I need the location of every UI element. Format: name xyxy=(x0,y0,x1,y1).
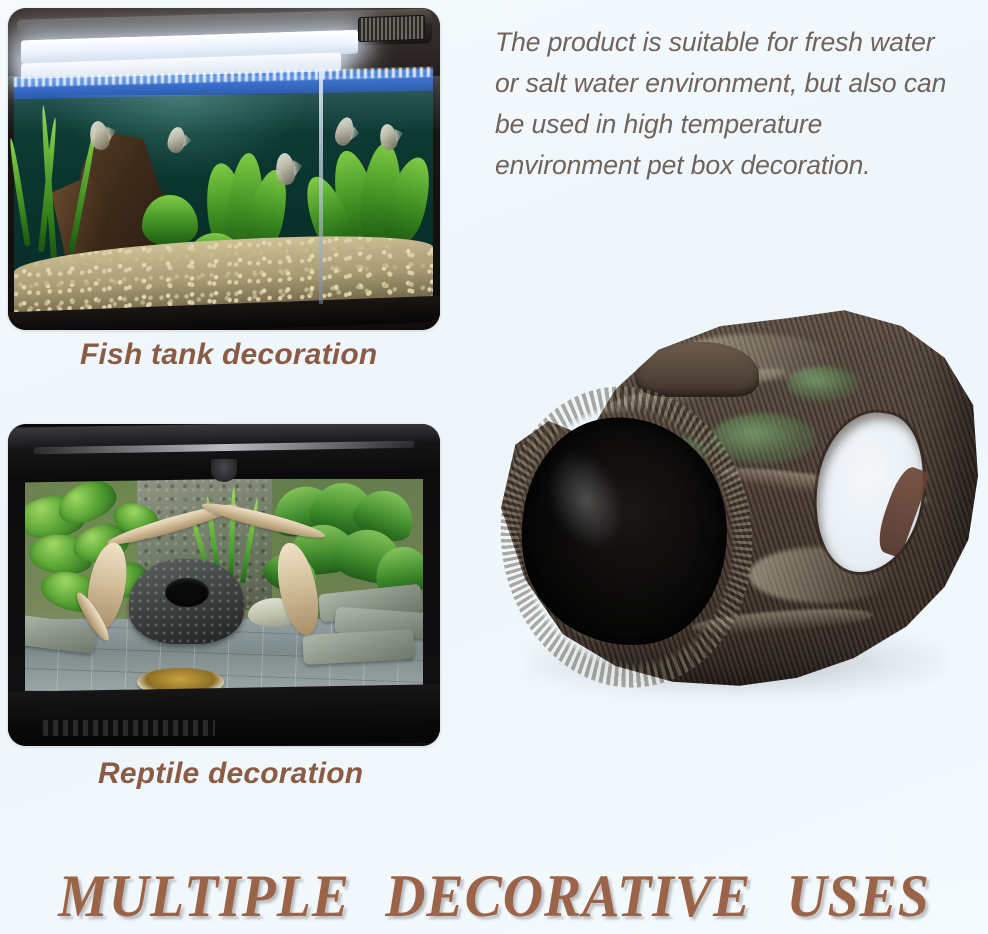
fish-tank-caption: Fish tank decoration xyxy=(80,338,377,372)
terrarium-latch-knob xyxy=(211,459,237,482)
terrarium-interior xyxy=(25,479,422,692)
product-infographic: Fish tank decoration xyxy=(0,0,988,934)
aquarium-glass-edge xyxy=(319,66,323,304)
terrarium-rock-hide xyxy=(129,559,244,644)
reptile-photo xyxy=(8,424,440,746)
reptile-scene xyxy=(8,424,440,746)
terrarium-bottom-rail xyxy=(8,684,440,746)
terrarium-hide-entrance xyxy=(165,578,209,607)
fish-tank-scene xyxy=(8,8,440,330)
reptile-caption: Reptile decoration xyxy=(98,757,363,791)
product-hero-image xyxy=(486,240,988,760)
log-top-notch xyxy=(635,342,759,397)
aquarium-hood-vent xyxy=(358,15,425,42)
terrarium-ventilation-slots xyxy=(43,720,216,736)
terrarium-slate-rock xyxy=(303,629,416,665)
headline-multiple-decorative-uses: MULTIPLE DECORATIVE USES xyxy=(35,862,954,931)
fish-tank-photo xyxy=(8,8,440,330)
product-description: The product is suitable for fresh water … xyxy=(495,22,957,186)
